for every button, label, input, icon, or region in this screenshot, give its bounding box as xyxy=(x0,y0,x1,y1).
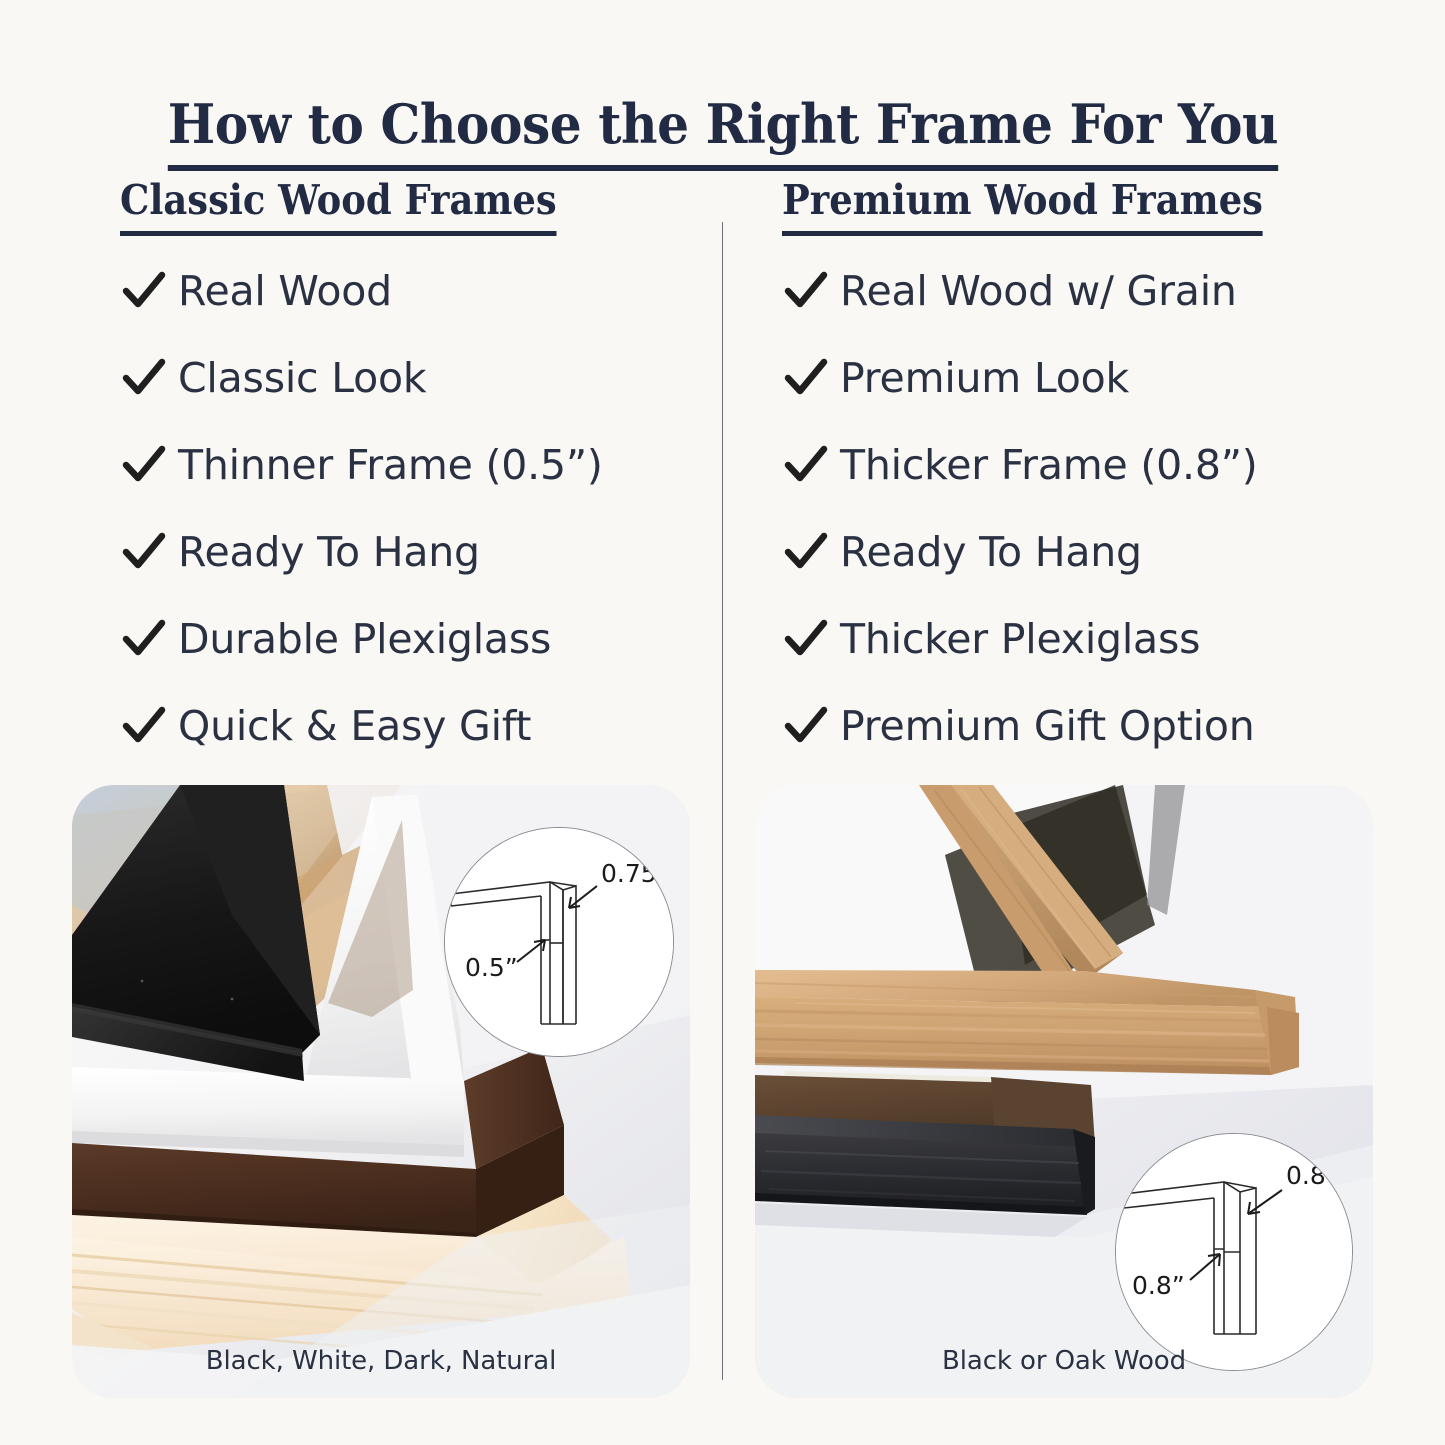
list-item: Thinner Frame (0.5”) xyxy=(122,428,742,502)
check-icon xyxy=(784,443,828,487)
feature-label: Real Wood w/ Grain xyxy=(840,271,1237,312)
check-icon xyxy=(784,530,828,574)
photo-caption-classic: Black, White, Dark, Natural xyxy=(72,1346,690,1376)
check-icon xyxy=(122,269,166,313)
list-item: Quick & Easy Gift xyxy=(122,689,742,763)
feature-label: Ready To Hang xyxy=(178,532,480,573)
list-item: Classic Look xyxy=(122,341,742,415)
feature-label: Premium Look xyxy=(840,358,1129,399)
check-icon xyxy=(784,356,828,400)
dimension-inset-classic: 0.75” 0.5” xyxy=(444,827,674,1057)
check-icon xyxy=(122,617,166,661)
feature-label: Thicker Frame (0.8”) xyxy=(840,445,1258,486)
column-heading-classic: Classic Wood Frames xyxy=(120,176,605,236)
list-item: Thicker Plexiglass xyxy=(784,602,1404,676)
feature-list-classic: Real Wood Classic Look Thinner Frame (0.… xyxy=(122,254,742,776)
page-title-text: How to Choose the Right Frame For You xyxy=(167,92,1277,171)
column-heading-premium-text: Premium Wood Frames xyxy=(782,176,1263,236)
list-item: Premium Gift Option xyxy=(784,689,1404,763)
list-item: Ready To Hang xyxy=(784,515,1404,589)
check-icon xyxy=(122,530,166,574)
inset-width-label-classic: 0.5” xyxy=(465,953,518,982)
page-title: How to Choose the Right Frame For You xyxy=(0,92,1445,171)
photo-caption-premium: Black or Oak Wood xyxy=(755,1346,1373,1376)
check-icon xyxy=(784,704,828,748)
photo-card-classic: 0.75” 0.5” Black, White, Dark, Natural xyxy=(72,785,690,1398)
feature-label: Premium Gift Option xyxy=(840,706,1255,747)
photo-card-premium: 0.8” 0.8” Black or Oak Wood xyxy=(755,785,1373,1398)
list-item: Premium Look xyxy=(784,341,1404,415)
check-icon xyxy=(122,443,166,487)
list-item: Real Wood xyxy=(122,254,742,328)
feature-label: Ready To Hang xyxy=(840,532,1142,573)
list-item: Ready To Hang xyxy=(122,515,742,589)
inset-width-label-premium: 0.8” xyxy=(1132,1271,1185,1300)
feature-label: Real Wood xyxy=(178,271,392,312)
list-item: Real Wood w/ Grain xyxy=(784,254,1404,328)
column-heading-classic-text: Classic Wood Frames xyxy=(120,176,557,236)
feature-label: Classic Look xyxy=(178,358,426,399)
check-icon xyxy=(784,269,828,313)
list-item: Thicker Frame (0.8”) xyxy=(784,428,1404,502)
dimension-inset-premium: 0.8” 0.8” xyxy=(1115,1133,1353,1371)
feature-label: Thicker Plexiglass xyxy=(840,619,1200,660)
column-heading-premium: Premium Wood Frames xyxy=(782,176,1316,236)
check-icon xyxy=(784,617,828,661)
check-icon xyxy=(122,704,166,748)
feature-label: Thinner Frame (0.5”) xyxy=(178,445,603,486)
infographic-page: How to Choose the Right Frame For You Cl… xyxy=(0,0,1445,1445)
feature-label: Durable Plexiglass xyxy=(178,619,551,660)
feature-list-premium: Real Wood w/ Grain Premium Look Thicker … xyxy=(784,254,1404,776)
feature-label: Quick & Easy Gift xyxy=(178,706,531,747)
check-icon xyxy=(122,356,166,400)
list-item: Durable Plexiglass xyxy=(122,602,742,676)
